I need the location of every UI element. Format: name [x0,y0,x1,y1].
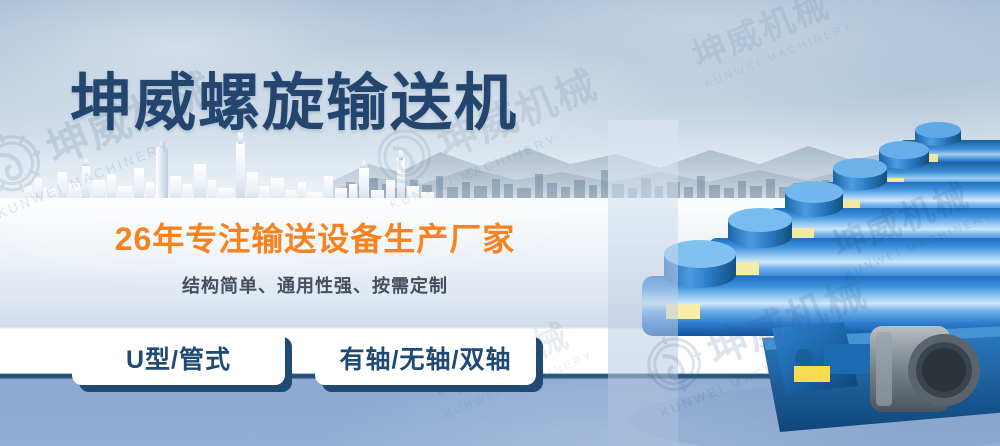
promo-banner: 坤威机械 KUNWEI MACHINERY 坤威机械 KUNWEI MACHIN… [0,0,1000,446]
foreground-city-skyline [18,128,438,206]
feature-pill-group: U型/管式 有轴/无轴/双轴 [72,330,536,385]
pill-label: U型/管式 [126,340,231,376]
pill-button-u-type-tube[interactable]: U型/管式 [72,330,285,385]
pill-button-shaft-types[interactable]: 有轴/无轴/双轴 [315,330,536,385]
banner-headline: 坤威螺旋输送机 [70,73,518,135]
pill-label: 有轴/无轴/双轴 [340,340,512,376]
banner-subheadline: 26年专注输送设备生产厂家 [0,221,630,258]
product-image-screw-conveyors [608,120,1000,446]
banner-tagline: 结构简单、通用性强、按需定制 [0,272,630,298]
